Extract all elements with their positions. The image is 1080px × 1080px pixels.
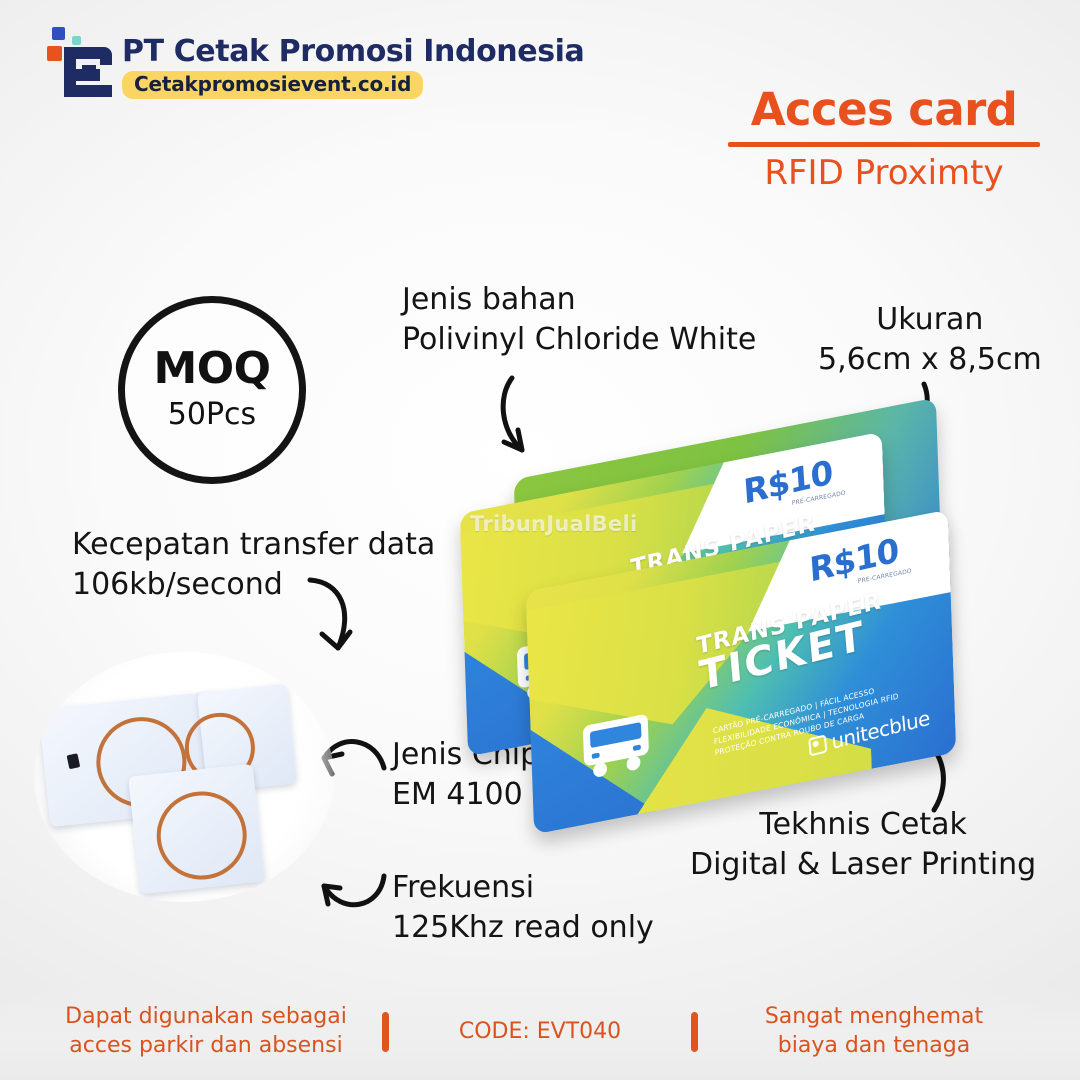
title-divider (728, 142, 1040, 147)
product-photo-cards: R$10 PRE-CARREGADO TRANS PAPER TICKET (430, 430, 1000, 810)
callout-frequency-label: Frekuensi (392, 868, 654, 908)
footer-divider-left (382, 1012, 389, 1052)
bus-icon (577, 707, 656, 785)
website-wrapper: Cetakpromosievent.co.id (122, 71, 584, 99)
footer-usage-line2: acces parkir dan absensi (56, 1032, 356, 1061)
callout-material-label: Jenis bahan (402, 280, 756, 320)
callout-printing-value: Digital & Laser Printing (690, 845, 1036, 885)
company-logo-icon (30, 26, 116, 104)
footer-divider-right (691, 1012, 698, 1052)
callout-printing-label: Tekhnis Cetak (690, 805, 1036, 845)
product-infographic-poster: PT Cetak Promosi Indonesia Cetakpromosie… (0, 0, 1080, 1080)
callout-printing: Tekhnis Cetak Digital & Laser Printing (690, 805, 1036, 884)
footer-usage-line1: Dapat digunakan sebagai (56, 1003, 356, 1032)
moq-label: MOQ (153, 347, 270, 391)
rfid-card-3 (128, 764, 265, 894)
page-subtitle: RFID Proximty (724, 155, 1044, 192)
footer-benefit-text: Sangat menghemat biaya dan tenaga (724, 1003, 1024, 1060)
moq-value: 50Pcs (168, 397, 256, 433)
footer-usage-text: Dapat digunakan sebagai acces parkir dan… (56, 1003, 356, 1060)
callout-speed-value: 106kb/second (72, 565, 435, 605)
callout-material-value: Polivinyl Chloride White (402, 320, 756, 360)
card-brand-mark-icon (808, 734, 827, 756)
callout-speed-label: Kecepatan transfer data (72, 525, 435, 565)
callout-material: Jenis bahan Polivinyl Chloride White (402, 280, 756, 359)
logo-square-blue (52, 27, 65, 40)
logo-monogram-icon (60, 43, 116, 101)
callout-size: Ukuran 5,6cm x 8,5cm (818, 300, 1042, 379)
footer-benefit-line2: biaya dan tenaga (724, 1032, 1024, 1061)
website-badge[interactable]: Cetakpromosievent.co.id (122, 71, 423, 99)
arrow-frequency-icon (312, 862, 392, 920)
arrow-speed-icon (296, 572, 376, 667)
rfid-inlay-photo (34, 652, 334, 902)
callout-size-label: Ukuran (818, 300, 1042, 340)
callout-speed: Kecepatan transfer data 106kb/second (72, 525, 435, 604)
company-name: PT Cetak Promosi Indonesia (122, 37, 584, 67)
callout-frequency: Frekuensi 125Khz read only (392, 868, 654, 947)
brand-text-block: PT Cetak Promosi Indonesia Cetakpromosie… (122, 26, 584, 99)
antenna-coil-icon (152, 787, 251, 884)
rfid-chip-icon (67, 753, 81, 769)
footer-benefit-line1: Sangat menghemat (724, 1003, 1024, 1032)
callout-size-value: 5,6cm x 8,5cm (818, 340, 1042, 380)
page-title: Acces card (724, 86, 1044, 133)
footer-bar: Dapat digunakan sebagai acces parkir dan… (0, 984, 1080, 1080)
callout-frequency-value: 125Khz read only (392, 908, 654, 948)
poster-title-block: Acces card RFID Proximty (724, 86, 1044, 193)
footer-product-code: CODE: EVT040 (415, 1018, 665, 1047)
moq-badge: MOQ 50Pcs (118, 296, 306, 484)
brand-header: PT Cetak Promosi Indonesia Cetakpromosie… (30, 26, 584, 104)
